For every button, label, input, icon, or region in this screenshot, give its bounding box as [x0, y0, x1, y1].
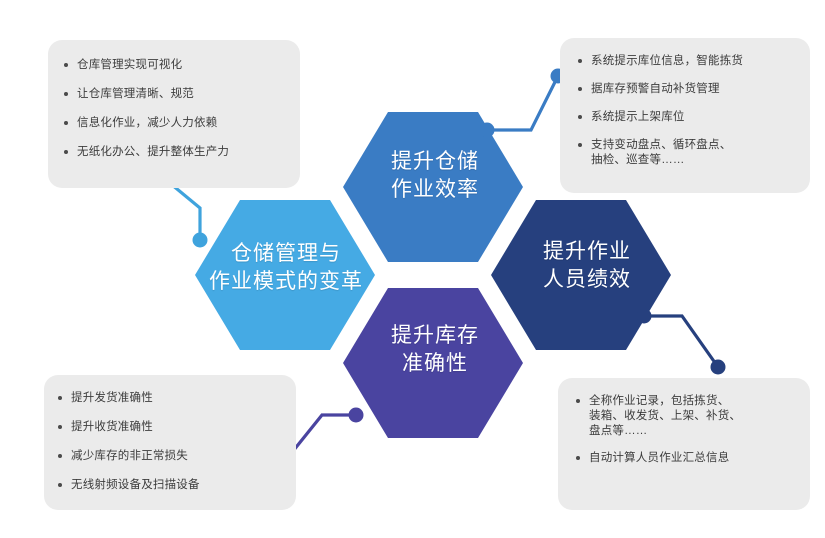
bullet-icon — [578, 87, 582, 91]
hexagon-staff-performance[interactable] — [491, 200, 671, 350]
hexagon-inventory-accuracy[interactable] — [343, 288, 523, 438]
list-item-label: 据库存预警自动补货管理 — [591, 82, 798, 97]
list-item-label: 无纸化办公、提升整体生产力 — [77, 145, 284, 160]
list-item-label: 自动计算人员作业汇总信息 — [589, 451, 796, 466]
bullet-icon — [578, 115, 582, 119]
list-item: 无线射频设备及扫描设备 — [56, 478, 282, 493]
bullet-icon — [58, 396, 62, 400]
list-item: 全称作业记录，包括拣货、 装箱、收发货、上架、补货、 盘点等…… — [574, 394, 796, 439]
list-item: 据库存预警自动补货管理 — [576, 82, 798, 97]
card-storage-efficiency-benefits[interactable]: 系统提示库位信息，智能拣货 据库存预警自动补货管理 系统提示上架库位 支持变动盘… — [560, 38, 810, 193]
list-item-label: 让仓库管理清晰、规范 — [77, 87, 284, 102]
list-item: 无纸化办公、提升整体生产力 — [62, 145, 284, 160]
list-item: 自动计算人员作业汇总信息 — [574, 451, 796, 466]
list-item-label: 无线射频设备及扫描设备 — [71, 478, 282, 493]
list-item-label: 全称作业记录，包括拣货、 装箱、收发货、上架、补货、 盘点等…… — [589, 394, 796, 439]
bullet-icon — [578, 59, 582, 63]
card-inventory-accuracy-benefits[interactable]: 提升发货准确性 提升收货准确性 减少库存的非正常损失 无线射频设备及扫描设备 — [44, 375, 296, 510]
list-item: 提升收货准确性 — [56, 420, 282, 435]
bullet-icon — [64, 121, 68, 125]
list-item-label: 提升收货准确性 — [71, 420, 282, 435]
list-item: 让仓库管理清晰、规范 — [62, 87, 284, 102]
bullet-icon — [64, 63, 68, 67]
list-item-label: 提升发货准确性 — [71, 391, 282, 406]
card-staff-performance-benefits-list: 全称作业记录，包括拣货、 装箱、收发货、上架、补货、 盘点等…… 自动计算人员作… — [574, 394, 796, 466]
list-item-label: 支持变动盘点、循环盘点、 抽检、巡查等…… — [591, 138, 798, 168]
list-item-label: 系统提示上架库位 — [591, 110, 798, 125]
list-item: 系统提示上架库位 — [576, 110, 798, 125]
bullet-icon — [58, 425, 62, 429]
bullet-icon — [578, 143, 582, 147]
list-item-label: 减少库存的非正常损失 — [71, 449, 282, 464]
list-item-label: 信息化作业，减少人力依赖 — [77, 116, 284, 131]
list-item-label: 系统提示库位信息，智能拣货 — [591, 54, 798, 69]
bullet-icon — [576, 456, 580, 460]
list-item: 支持变动盘点、循环盘点、 抽检、巡查等…… — [576, 138, 798, 168]
list-item: 信息化作业，减少人力依赖 — [62, 116, 284, 131]
list-item: 提升发货准确性 — [56, 391, 282, 406]
bullet-icon — [576, 399, 580, 403]
hexagon-core-transformation[interactable] — [195, 200, 375, 350]
card-inventory-accuracy-benefits-list: 提升发货准确性 提升收货准确性 减少库存的非正常损失 无线射频设备及扫描设备 — [56, 391, 282, 493]
list-item: 减少库存的非正常损失 — [56, 449, 282, 464]
bullet-icon — [58, 454, 62, 458]
bullet-icon — [64, 150, 68, 154]
bullet-icon — [64, 92, 68, 96]
list-item: 仓库管理实现可视化 — [62, 58, 284, 73]
hexagon-storage-efficiency[interactable] — [343, 112, 523, 262]
card-visualization-benefits-list: 仓库管理实现可视化 让仓库管理清晰、规范 信息化作业，减少人力依赖 无纸化办公、… — [62, 58, 284, 160]
diagram-canvas: 仓储管理与 作业模式的变革 提升仓储 作业效率 提升作业 人员绩效 提升库存 准… — [0, 0, 825, 538]
card-storage-efficiency-benefits-list: 系统提示库位信息，智能拣货 据库存预警自动补货管理 系统提示上架库位 支持变动盘… — [576, 54, 798, 168]
list-item-label: 仓库管理实现可视化 — [77, 58, 284, 73]
card-staff-performance-benefits[interactable]: 全称作业记录，包括拣货、 装箱、收发货、上架、补货、 盘点等…… 自动计算人员作… — [558, 378, 810, 510]
card-visualization-benefits[interactable]: 仓库管理实现可视化 让仓库管理清晰、规范 信息化作业，减少人力依赖 无纸化办公、… — [48, 40, 300, 188]
bullet-icon — [58, 483, 62, 487]
list-item: 系统提示库位信息，智能拣货 — [576, 54, 798, 69]
